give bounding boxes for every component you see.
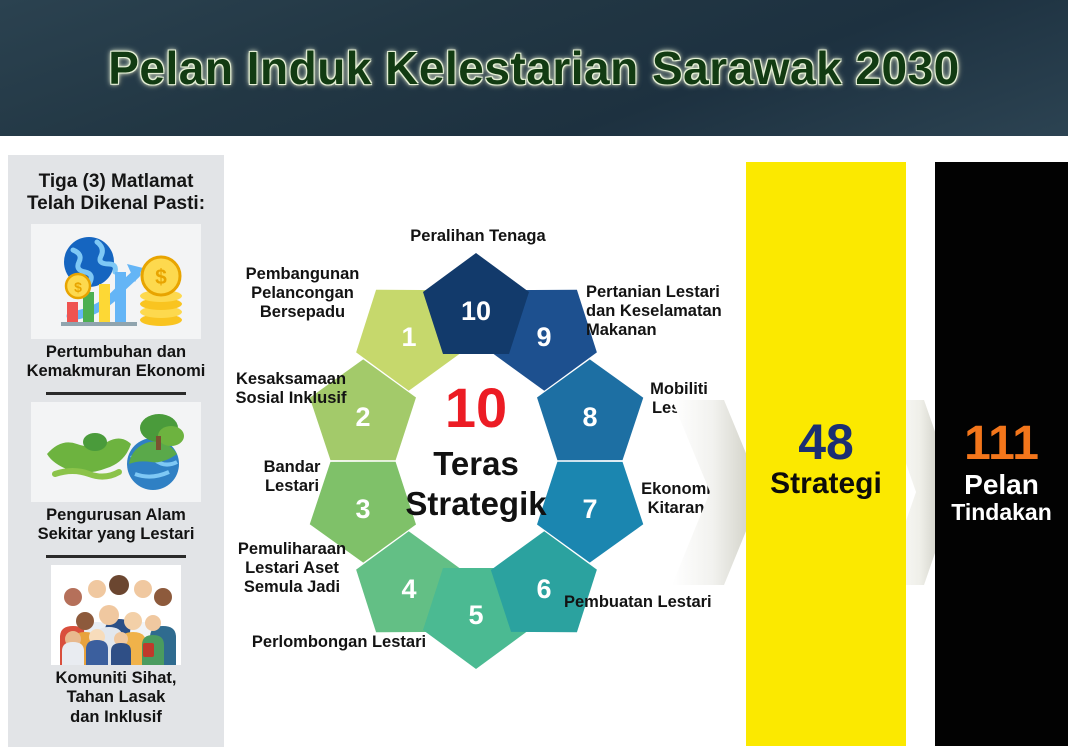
goal-item-environment: Pengurusan AlamSekitar yang Lestari [14, 402, 218, 544]
goal-label-economic: Pertumbuhan danKemakmuran Ekonomi [14, 343, 218, 381]
pentagon-number-7: 7 [582, 494, 597, 524]
strategy-label: Strategi [746, 468, 906, 500]
strategic-pillars-wheel: 1 2 3 4 5 [224, 155, 746, 747]
goal-label-environment: Pengurusan AlamSekitar yang Lestari [14, 506, 218, 544]
wheel-label-1: PembangunanPelanconganBersepadu [230, 265, 375, 322]
goal-item-community: Komuniti Sihat,Tahan Lasakdan Inklusif [14, 565, 218, 726]
action-plan-label-line2: Tindakan [935, 500, 1068, 525]
wheel-label-4: PemuliharaanLestari AsetSemula Jadi [218, 540, 366, 597]
page-title: Pelan Induk Kelestarian Sarawak 2030 [108, 41, 960, 95]
goal-item-economic: $ $ Pertumbuhan danKemakmuran Ekonomi [14, 224, 218, 381]
wheel-label-6: Pembuatan Lestari [564, 593, 744, 612]
wheel-label-3: BandarLestari [236, 458, 348, 496]
action-plan-panel: 111 Pelan Tindakan [935, 162, 1068, 746]
strategy-count: 48 [746, 417, 906, 467]
pentagon-number-1: 1 [401, 322, 416, 352]
wheel-label-10: Peralihan Tenaga [368, 227, 588, 246]
goal-divider-2 [46, 555, 186, 558]
pentagon-number-3: 3 [355, 494, 370, 524]
economic-growth-chart-icon: $ $ [31, 224, 201, 339]
pentagon-number-5: 5 [468, 600, 483, 630]
goals-heading: Tiga (3) MatlamatTelah Dikenal Pasti: [14, 171, 218, 216]
pentagon-number-9: 9 [536, 322, 551, 352]
pentagon-segment-10: 10 [423, 253, 529, 354]
wheel-label-5: Perlombongan Lestari [234, 633, 444, 652]
wheel-label-9: Pertanian Lestaridan KeselamatanMakanan [586, 283, 751, 340]
svg-text:$: $ [155, 266, 167, 289]
pentagon-number-4: 4 [401, 574, 416, 604]
goal-label-community: Komuniti Sihat,Tahan Lasakdan Inklusif [14, 669, 218, 726]
pentagon-number-8: 8 [582, 402, 597, 432]
diverse-community-people-icon [51, 565, 181, 665]
pentagon-number-6: 6 [536, 574, 551, 604]
action-plan-label-line1: Pelan [935, 470, 1068, 500]
wheel-label-2: KesaksamaanSosial Inklusif [221, 370, 361, 408]
slide-header: Pelan Induk Kelestarian Sarawak 2030 [0, 0, 1068, 136]
pentagon-number-10: 10 [461, 296, 491, 326]
green-earth-environment-icon [31, 402, 201, 502]
infographic-slide: Pelan Induk Kelestarian Sarawak 2030 Tig… [0, 0, 1068, 755]
strategy-panel: 48 Strategi [746, 162, 906, 746]
svg-text:$: $ [74, 279, 82, 295]
goals-panel: Tiga (3) MatlamatTelah Dikenal Pasti: [8, 155, 224, 747]
wheel-center-number: 10 [445, 376, 507, 439]
wheel-center-line2: Strategik [405, 485, 547, 522]
wheel-center-line1: Teras [433, 445, 519, 482]
action-plan-count: 111 [935, 420, 1068, 468]
goal-divider-1 [46, 392, 186, 395]
